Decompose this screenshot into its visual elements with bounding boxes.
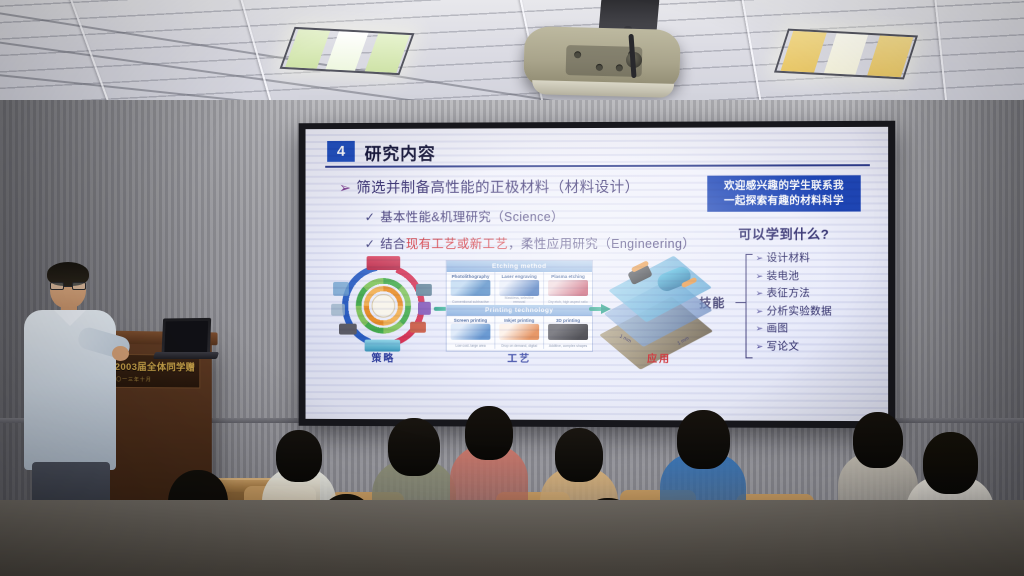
skills-group: 技能 ➢设计材料 ➢装电池 ➢表征方法 ➢分析实验数据 ➢画图 ➢写论文 [699, 250, 881, 363]
process-section-grid: Screen printing Low cost, large area Ink… [447, 316, 592, 349]
slide-title: 研究内容 [365, 140, 436, 165]
audience-head [853, 412, 903, 468]
skill-item: ➢写论文 [756, 338, 832, 356]
learn-question-heading: 可以学到什么? [707, 224, 860, 243]
process-section-grid: Photolithography Conventional subtractiv… [447, 272, 592, 305]
skill-item: ➢分析实验数据 [756, 303, 832, 321]
bullet-primary-text: 筛选并制备高性能的正极材料（材料设计） [356, 180, 639, 197]
skills-list: ➢设计材料 ➢装电池 ➢表征方法 ➢分析实验数据 ➢画图 ➢写论文 [756, 250, 832, 356]
lecture-hall-photo: 4 研究内容 ➢筛选并制备高性能的正极材料（材料设计） ✓基本性能&机理研究（S… [0, 0, 1024, 576]
application-figure-caption: 应用 [605, 350, 713, 365]
process-cell: Laser engraving Maskless, selective remo… [495, 272, 544, 305]
skill-marker-icon: ➢ [756, 288, 764, 298]
process-cell-title: Screen printing [449, 318, 493, 323]
projection-screen-frame: 4 研究内容 ➢筛选并制备高性能的正极材料（材料设计） ✓基本性能&机理研究（S… [299, 121, 896, 429]
strategy-node [410, 322, 426, 333]
process-cell-thumbnail [499, 324, 539, 340]
process-cell: 3D printing Additive, complex shapes [544, 316, 592, 349]
strategy-figure-caption: 策略 [331, 349, 436, 364]
process-cell-thumbnail [451, 280, 491, 296]
slide-header: 4 研究内容 [319, 137, 874, 169]
application-figure: 1 mm 1 mm 应用 [605, 258, 713, 354]
process-cell: Screen printing Low cost, large area [447, 316, 496, 349]
audience-head [677, 410, 730, 469]
process-cell-caption: Additive, complex shapes [547, 344, 589, 348]
skill-item-label: 写论文 [767, 340, 800, 352]
audience-head [388, 418, 440, 476]
strategy-node [339, 324, 357, 335]
bullet-pre-text: 结合 [380, 237, 406, 251]
process-cell-thumbnail [451, 324, 491, 340]
process-figure-caption: 工艺 [446, 350, 593, 365]
process-cell-caption: Drop on demand, digital [498, 344, 540, 348]
process-cell: Photolithography Conventional subtractiv… [447, 272, 496, 305]
process-cell: Inkjet printing Drop on demand, digital [495, 316, 544, 349]
process-cell-title: Plasma etching [546, 274, 590, 279]
strategy-node [416, 284, 432, 296]
slide-bullet-secondary-1: ✓基本性能&机理研究（Science） [365, 206, 564, 225]
figures-row: 策略 Etching method Photolithography Conve… [319, 258, 717, 370]
process-cell-title: 3D printing [546, 318, 590, 323]
process-section-header: Etching method [447, 261, 592, 272]
glasses-icon [50, 282, 86, 290]
bullet-post-text: ，柔性应用研究（Engineering） [508, 237, 695, 251]
strategy-node [331, 304, 345, 316]
skills-brace-icon [746, 254, 753, 358]
skill-marker-icon: ➢ [756, 306, 764, 316]
process-cell-caption: Low cost, large area [450, 344, 492, 348]
ceiling-light-left [280, 27, 415, 75]
process-cell-caption: Maskless, selective removal [498, 296, 540, 304]
skill-item-label: 设计材料 [767, 252, 811, 264]
skill-item-label: 装电池 [767, 269, 800, 281]
bullet-highlight-text: 现有工艺或新工艺 [406, 237, 508, 251]
strategy-figure: 策略 [331, 258, 436, 354]
slide-number-badge: 4 [327, 141, 355, 162]
skill-item: ➢表征方法 [756, 285, 832, 303]
presentation-slide: 4 研究内容 ➢筛选并制备高性能的正极材料（材料设计） ✓基本性能&机理研究（S… [306, 127, 889, 421]
laptop-screen [164, 321, 208, 353]
strategy-node [367, 256, 401, 270]
audience-head [276, 430, 322, 482]
audience-head [465, 406, 513, 460]
skills-connector [735, 302, 745, 303]
ceiling-light-right [774, 29, 918, 80]
process-cell-caption: Conventional subtractive [450, 300, 492, 304]
presenter-laptop [161, 318, 211, 356]
skill-item-label: 分析实验数据 [767, 305, 832, 317]
audience-head [555, 428, 603, 482]
invitation-banner: 欢迎感兴趣的学生联系我 一起探索有趣的材料科学 [707, 175, 860, 212]
process-cell-title: Photolithography [449, 274, 493, 279]
strategy-ring-core [372, 294, 396, 318]
skill-item: ➢装电池 [756, 267, 832, 285]
skill-marker-icon: ➢ [756, 323, 764, 333]
process-cell-caption: Dry etch, high aspect ratio [547, 300, 589, 304]
presenter-hand [112, 346, 129, 361]
skill-marker-icon: ➢ [756, 253, 764, 263]
skill-marker-icon: ➢ [756, 270, 764, 280]
process-cell-thumbnail [499, 280, 539, 296]
process-cell-title: Laser engraving [497, 274, 541, 279]
bullet-marker-icon: ➢ [339, 181, 351, 197]
process-cell-title: Inkjet printing [497, 318, 541, 323]
check-marker-icon: ✓ [365, 237, 376, 251]
process-cell-thumbnail [548, 280, 588, 296]
laptop-base [153, 352, 219, 359]
process-cell-thumbnail [548, 324, 588, 340]
banner-line-1: 欢迎感兴趣的学生联系我 [711, 178, 856, 194]
strategy-node [333, 282, 349, 296]
banner-line-2: 一起探索有趣的材料科学 [711, 194, 856, 210]
floor [0, 500, 1024, 576]
slide-bullet-secondary-2: ✓结合现有工艺或新工艺，柔性应用研究（Engineering） [365, 233, 696, 252]
process-cell: Plasma etching Dry etch, high aspect rat… [544, 272, 592, 305]
slide-title-rule [325, 164, 870, 167]
skill-item: ➢画图 [756, 320, 832, 338]
strategy-node [418, 302, 431, 315]
skill-item-label: 表征方法 [767, 287, 811, 299]
process-figure: Etching method Photolithography Conventi… [446, 260, 593, 352]
presenter [16, 262, 126, 520]
skill-marker-icon: ➢ [756, 341, 764, 351]
check-marker-icon: ✓ [365, 210, 376, 224]
process-section-header: Printing technology [447, 305, 592, 316]
bullet-secondary-text: 基本性能&机理研究（Science） [380, 210, 564, 224]
audience-head [923, 432, 978, 494]
skill-item: ➢设计材料 [756, 250, 832, 268]
slide-bullet-primary: ➢筛选并制备高性能的正极材料（材料设计） [339, 176, 640, 198]
projection-screen: 4 研究内容 ➢筛选并制备高性能的正极材料（材料设计） ✓基本性能&机理研究（S… [306, 127, 889, 421]
skill-item-label: 画图 [767, 322, 789, 334]
